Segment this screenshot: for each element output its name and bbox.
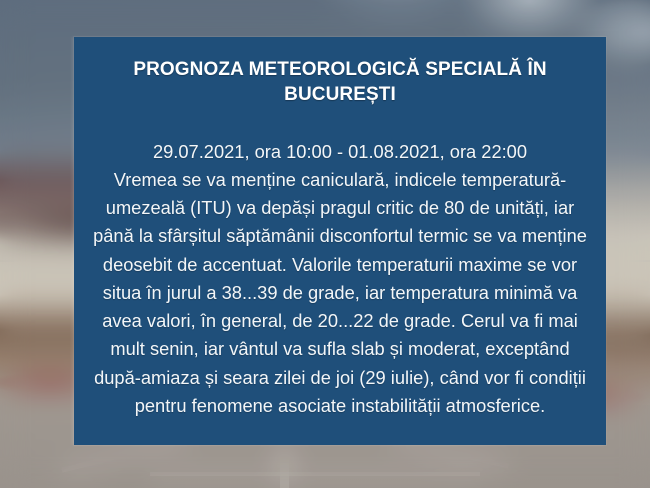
screenshot-root: PROGNOZA METEOROLOGICĂ SPECIALĂ ÎN BUCUR… (0, 0, 650, 488)
alert-forecast-text: Vremea se va menține caniculară, indicel… (93, 169, 587, 416)
alert-body: 29.07.2021, ora 10:00 - 01.08.2021, ora … (88, 138, 592, 421)
alert-validity-period: 29.07.2021, ora 10:00 - 01.08.2021, ora … (88, 138, 592, 166)
weather-alert-panel: PROGNOZA METEOROLOGICĂ SPECIALĂ ÎN BUCUR… (74, 37, 606, 445)
alert-title: PROGNOZA METEOROLOGICĂ SPECIALĂ ÎN BUCUR… (90, 57, 590, 108)
